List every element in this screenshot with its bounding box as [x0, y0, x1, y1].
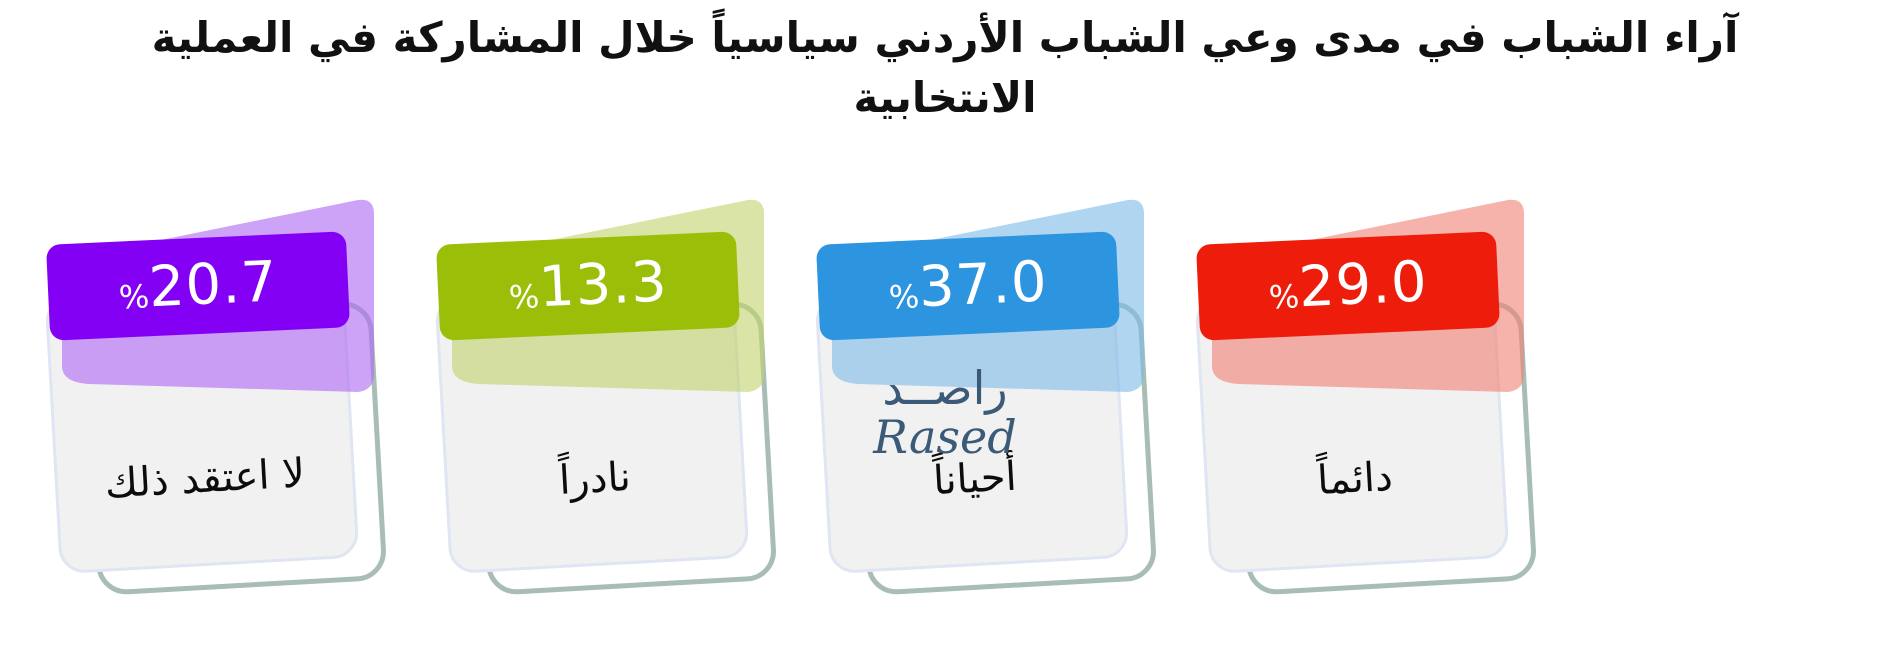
page-title: آراء الشباب في مدى وعي الشباب الأردني سي… — [0, 8, 1890, 127]
card-label: نادراً — [434, 280, 749, 574]
card-label: أحياناً — [814, 280, 1129, 574]
infographic-canvas: آراء الشباب في مدى وعي الشباب الأردني سي… — [0, 0, 1890, 650]
stat-card-ahyanan: 37.0% أحياناً — [800, 180, 1180, 600]
stat-card-nadiran: 13.3% نادراً — [420, 180, 800, 600]
card-label: دائماً — [1194, 280, 1509, 574]
stat-card-daiman: 29.0% دائماً — [1180, 180, 1560, 600]
card-label: لا اعتقد ذلك — [44, 280, 359, 574]
stat-card-la-aataqid: 20.7% لا اعتقد ذلك — [30, 180, 410, 600]
